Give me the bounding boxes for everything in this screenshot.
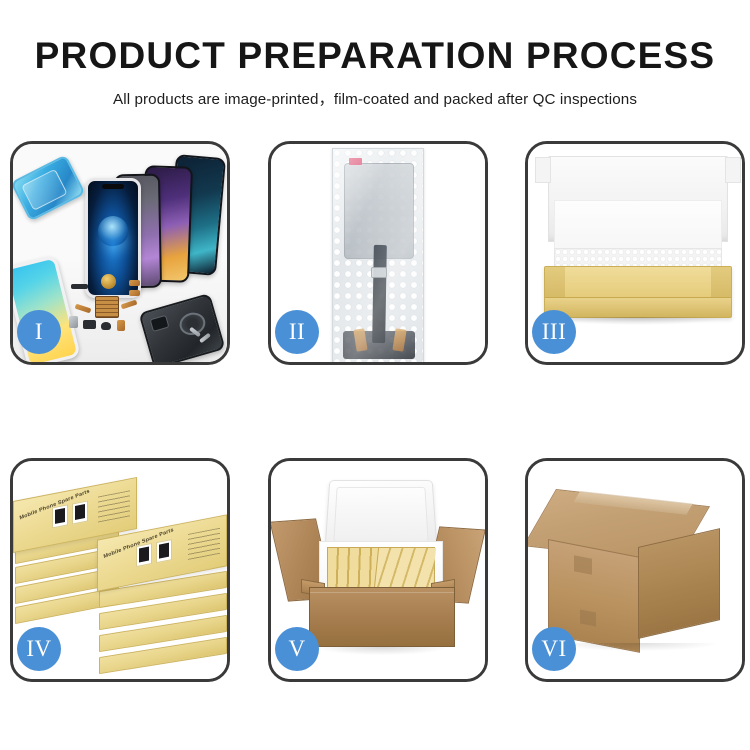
- drop-shadow: [550, 317, 726, 325]
- carton-marking: [580, 609, 596, 626]
- spare-part-icon: [101, 274, 116, 289]
- driver-ic-icon: [371, 267, 387, 278]
- foam-lid-rim: [333, 487, 428, 542]
- spare-part-icon: [101, 322, 111, 330]
- wireless-coil-icon: [177, 310, 208, 338]
- step-badge-1: I: [17, 310, 61, 354]
- screen-protector-icon: [13, 154, 86, 221]
- step-badge-5: V: [275, 627, 319, 671]
- box-artwork-swatch: [136, 543, 152, 567]
- kraft-box-tray-icon: [544, 266, 732, 318]
- lid-flap-right: [725, 157, 741, 183]
- spare-part-icon: [129, 290, 140, 296]
- step-badge-2: II: [275, 310, 319, 354]
- spare-part-icon: [69, 316, 78, 328]
- box-spec-lines: [98, 490, 130, 522]
- page-header: PRODUCT PREPARATION PROCESS All products…: [0, 36, 750, 109]
- box-spec-lines: [188, 528, 220, 560]
- drop-shadow: [554, 643, 718, 651]
- lid-flap-left: [535, 157, 551, 183]
- step-badge-4: IV: [17, 627, 61, 671]
- carton-front-panel: [309, 587, 455, 647]
- page-subtitle: All products are image-printed，film-coat…: [0, 87, 750, 109]
- spare-part-icon: [71, 284, 88, 289]
- spare-part-icon: [129, 280, 140, 286]
- process-step-panel-5: V: [268, 458, 488, 682]
- process-step-panel-4: Mobile Phone Spare Parts Mobile Phone Sp…: [10, 458, 230, 682]
- spare-part-icon: [95, 296, 119, 318]
- step-badge-6: VI: [532, 627, 576, 671]
- product-preparation-page: PRODUCT PREPARATION PROCESS All products…: [0, 0, 750, 750]
- process-step-panel-2: II: [268, 141, 488, 365]
- box-artwork-swatch: [52, 504, 68, 528]
- tray-front-panel: [545, 297, 731, 317]
- process-steps-grid: I II: [10, 141, 745, 682]
- spare-part-icon: [83, 320, 96, 329]
- box-artwork-swatch: [72, 500, 88, 524]
- process-step-panel-3: III: [525, 141, 745, 365]
- process-step-panel-1: I: [10, 141, 230, 365]
- process-step-panel-6: VI: [525, 458, 745, 682]
- page-title: PRODUCT PREPARATION PROCESS: [0, 36, 750, 76]
- wallpaper-graphic: [95, 213, 131, 249]
- camera-module-icon: [150, 315, 170, 332]
- packed-boxes-row: [374, 548, 436, 588]
- carton-marking: [574, 555, 592, 574]
- spare-part-icon: [117, 320, 125, 331]
- drop-shadow: [317, 647, 447, 655]
- notch-icon: [102, 184, 124, 189]
- step-badge-3: III: [532, 310, 576, 354]
- bubble-wrapped-screen-icon: [332, 148, 424, 362]
- protector-inner: [21, 168, 68, 210]
- carton-right-face: [638, 528, 720, 639]
- carton-seam: [310, 592, 454, 593]
- box-artwork-swatch: [156, 539, 172, 563]
- flex-cable-icon: [372, 245, 387, 343]
- packed-boxes-icon: [327, 547, 435, 589]
- qc-sticker-icon: [349, 158, 362, 165]
